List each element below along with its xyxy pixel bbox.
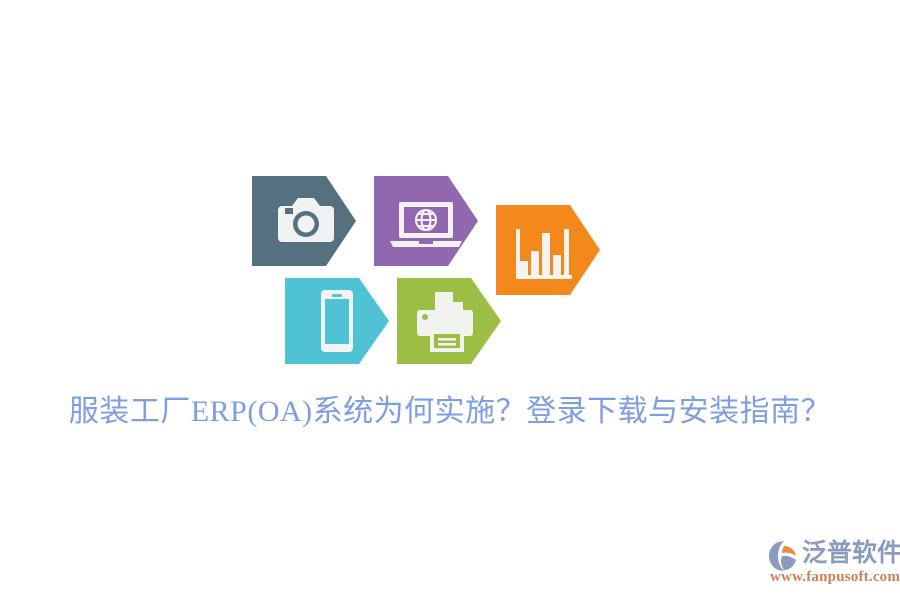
arrow-tile-printer [397,278,501,364]
page-title: 服装工厂ERP(OA)系统为何实施？登录下载与安装指南？ [0,390,900,434]
arrow-tile-phone [285,278,389,364]
arrow-shape-printer [397,278,501,364]
arrow-shape-chart [496,205,600,295]
logo-website-url: www.fanpusoft.com [770,568,900,587]
arrow-shape-camera [252,176,356,266]
arrow-tile-laptop [374,176,478,266]
arrow-tile-camera [252,176,356,266]
brand-logo[interactable]: 泛普软件 www.fanpusoft.com [768,536,892,588]
logo-company-name: 泛普软件 [802,536,900,569]
arrow-tile-chart [496,205,600,295]
banner-canvas: 服装工厂ERP(OA)系统为何实施？登录下载与安装指南？ 泛普软件 www.fa… [0,0,900,600]
arrow-shape-laptop [374,176,478,266]
arrow-shape-phone [285,278,389,364]
